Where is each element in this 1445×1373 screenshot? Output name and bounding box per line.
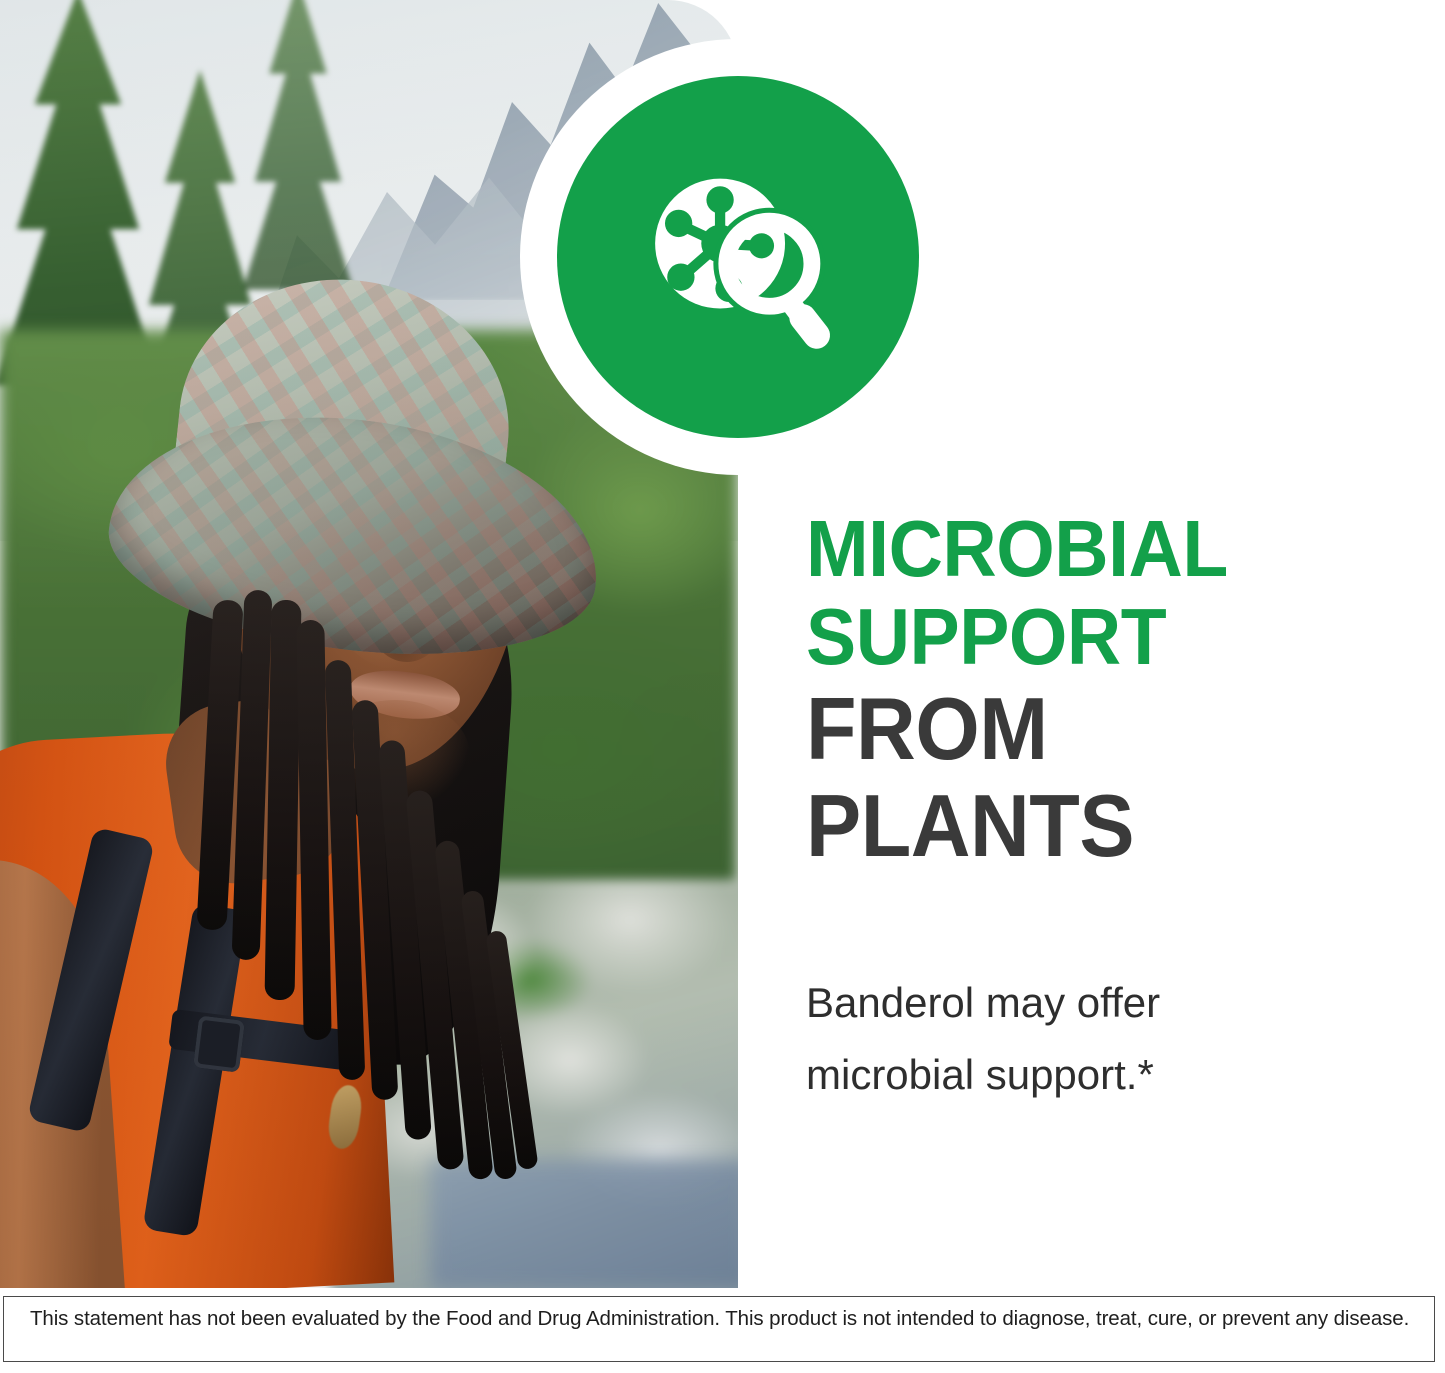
- headline-line-3: FROM PLANTS: [806, 681, 1370, 875]
- page-title: MICROBIAL SUPPORT FROM PLANTS: [806, 505, 1370, 875]
- headline-line-2: SUPPORT: [806, 593, 1370, 681]
- subtitle-line-2: microbial support.*: [806, 1051, 1154, 1098]
- microbe-magnifier-icon: [626, 145, 850, 369]
- bucket-hat-brim: [98, 391, 612, 679]
- strap-buckle: [193, 1015, 245, 1072]
- fda-disclaimer: This statement has not been evaluated by…: [3, 1296, 1435, 1362]
- microbial-badge: [557, 76, 919, 438]
- subtitle-line-1: Banderol may offer: [806, 979, 1160, 1026]
- promo-banner: MICROBIAL SUPPORT FROM PLANTS Banderol m…: [0, 0, 1445, 1373]
- message-column: MICROBIAL SUPPORT FROM PLANTS Banderol m…: [806, 505, 1406, 1111]
- subtitle: Banderol may offer microbial support.*: [806, 875, 1406, 1111]
- headline-line-1: MICROBIAL: [806, 505, 1370, 593]
